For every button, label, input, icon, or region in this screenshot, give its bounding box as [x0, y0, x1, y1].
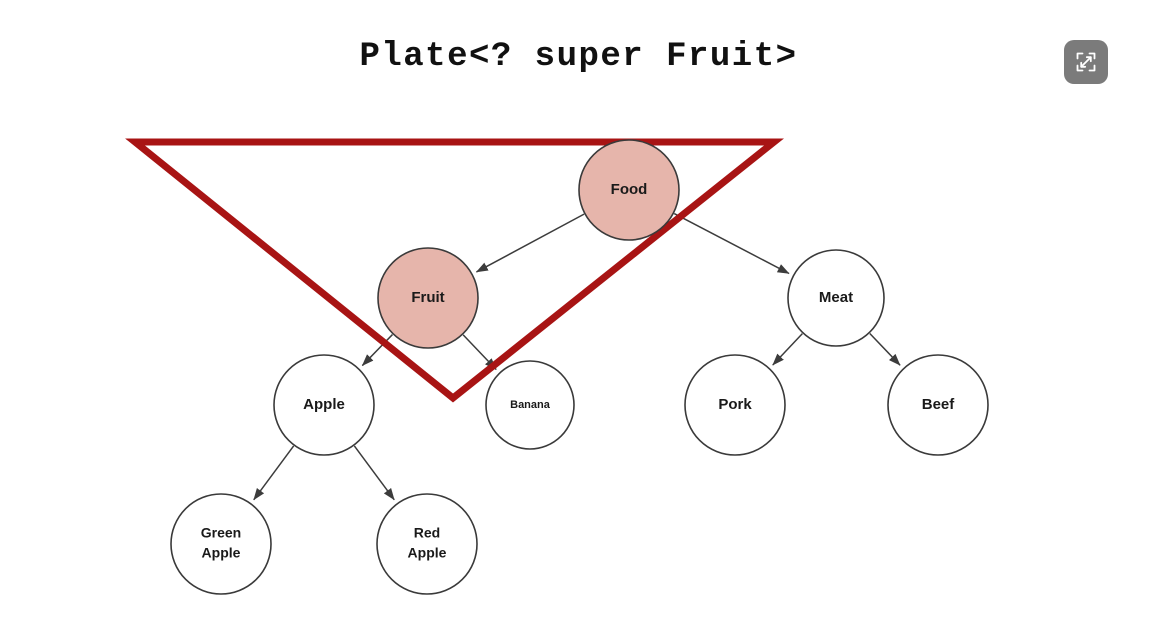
node-food[interactable]: Food [579, 140, 679, 240]
node-meat[interactable]: Meat [788, 250, 884, 346]
node-circle-food [579, 140, 679, 240]
node-redapple[interactable]: RedApple [377, 494, 477, 594]
edge-meat-to-beef [870, 333, 900, 365]
node-circle-banana [486, 361, 574, 449]
node-banana[interactable]: Banana [486, 361, 574, 449]
node-circle-redapple [377, 494, 477, 594]
edges-layer [254, 214, 900, 500]
edge-apple-to-redapple [354, 446, 394, 500]
edge-food-to-fruit [476, 214, 584, 272]
node-circle-pork [685, 355, 785, 455]
nodes-layer: FoodFruitMeatAppleBananaPorkBeefGreenApp… [171, 140, 988, 594]
node-apple[interactable]: Apple [274, 355, 374, 455]
edge-food-to-meat [674, 214, 789, 274]
edge-apple-to-greenapple [254, 446, 294, 500]
node-circle-apple [274, 355, 374, 455]
node-circle-beef [888, 355, 988, 455]
node-pork[interactable]: Pork [685, 355, 785, 455]
node-circle-meat [788, 250, 884, 346]
node-greenapple[interactable]: GreenApple [171, 494, 271, 594]
node-circle-fruit [378, 248, 478, 348]
node-fruit[interactable]: Fruit [378, 248, 478, 348]
node-circle-greenapple [171, 494, 271, 594]
hierarchy-diagram: FoodFruitMeatAppleBananaPorkBeefGreenApp… [0, 0, 1157, 639]
edge-meat-to-pork [773, 334, 803, 365]
node-beef[interactable]: Beef [888, 355, 988, 455]
slide-canvas: Plate<? super Fruit> FoodFruitMeatAppleB… [0, 0, 1157, 639]
